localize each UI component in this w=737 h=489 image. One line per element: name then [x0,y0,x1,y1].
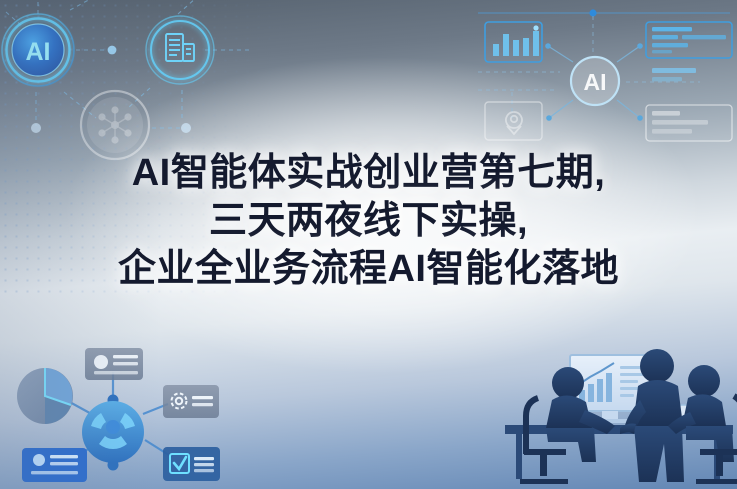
headline-line-3: 企业全业务流程AI智能化落地 [0,246,737,294]
page-title: AI智能体实战创业营第七期, 三天两夜线下实操, 企业全业务流程AI智能化落地 [0,150,737,294]
headline-line-2: 三天两夜线下实操, [0,198,737,246]
chair-icon-left-base [520,452,568,484]
headline-line-1: AI智能体实战创业营第七期, [0,150,737,198]
poster-canvas: AI [0,0,737,489]
